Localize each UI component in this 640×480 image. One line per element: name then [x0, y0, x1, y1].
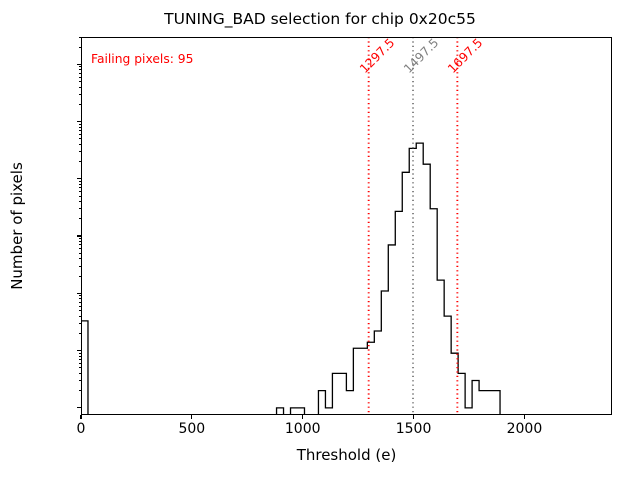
- y-axis-minor-tick: [79, 161, 82, 162]
- y-axis-minor-tick: [79, 134, 82, 135]
- y-axis-minor-tick: [79, 77, 82, 78]
- y-axis-minor-tick: [79, 380, 82, 381]
- y-axis-minor-tick: [79, 241, 82, 242]
- y-axis-minor-tick: [79, 124, 82, 125]
- y-axis-minor-tick: [79, 258, 82, 259]
- x-tick-label: 1500: [374, 421, 454, 437]
- y-axis-minor-tick: [79, 187, 82, 188]
- y-axis-minor-tick: [79, 218, 82, 219]
- y-axis-minor-tick: [79, 266, 82, 267]
- figure-canvas: TUNING_BAD selection for chip 0x20c55 Nu…: [0, 0, 640, 480]
- y-axis-minor-tick: [79, 196, 82, 197]
- y-axis-minor-tick: [79, 127, 82, 128]
- y-axis-minor-tick: [79, 181, 82, 182]
- page-title: TUNING_BAD selection for chip 0x20c55: [0, 10, 640, 28]
- y-axis-minor-tick: [79, 276, 82, 277]
- threshold-vlines: [369, 37, 458, 415]
- histogram-plot: [81, 37, 612, 415]
- x-tick-label: 500: [152, 421, 232, 437]
- y-axis-minor-tick: [79, 316, 82, 317]
- y-axis-tick: [77, 350, 81, 351]
- y-axis-minor-tick: [79, 363, 82, 364]
- y-axis-minor-tick: [79, 310, 82, 311]
- y-axis-tick: [77, 235, 81, 236]
- y-axis-minor-tick: [79, 333, 82, 334]
- y-axis-minor-tick: [79, 138, 82, 139]
- y-axis-minor-tick: [79, 248, 82, 249]
- y-axis-minor-tick: [79, 87, 82, 88]
- y-axis-tick: [77, 121, 81, 122]
- y-axis-minor-tick: [79, 244, 82, 245]
- y-axis-minor-tick: [79, 306, 82, 307]
- y-axis-minor-tick: [79, 130, 82, 131]
- y-axis-tick: [77, 64, 81, 65]
- x-tick-label: 0: [41, 421, 121, 437]
- x-axis-tick: [524, 415, 525, 419]
- y-axis-minor-tick: [79, 390, 82, 391]
- y-axis-minor-tick: [79, 151, 82, 152]
- y-axis-minor-tick: [79, 323, 82, 324]
- histogram-outline: [81, 143, 500, 415]
- y-axis-tick: [77, 293, 81, 294]
- y-axis-minor-tick: [79, 69, 82, 70]
- y-axis-minor-tick: [79, 298, 82, 299]
- x-axis-label: Threshold (e): [81, 446, 612, 464]
- y-axis-minor-tick: [79, 184, 82, 185]
- y-axis-minor-tick: [79, 144, 82, 145]
- y-axis-minor-tick: [79, 73, 82, 74]
- y-axis-minor-tick: [79, 208, 82, 209]
- x-axis-tick: [413, 415, 414, 419]
- y-axis-minor-tick: [79, 238, 82, 239]
- y-axis-minor-tick: [79, 295, 82, 296]
- y-axis-minor-tick: [79, 353, 82, 354]
- y-axis-minor-tick: [79, 253, 82, 254]
- x-tick-label: 2000: [484, 421, 564, 437]
- y-axis-tick: [77, 407, 81, 408]
- y-axis-minor-tick: [79, 356, 82, 357]
- y-axis-minor-tick: [79, 302, 82, 303]
- failing-pixels-annotation: Failing pixels: 95: [91, 52, 193, 66]
- y-axis-minor-tick: [79, 359, 82, 360]
- plot-area: [81, 37, 612, 415]
- y-axis-minor-tick: [79, 66, 82, 67]
- y-axis-tick: [77, 178, 81, 179]
- y-axis-label: Number of pixels: [8, 37, 26, 415]
- histogram-step-line: [81, 143, 500, 415]
- y-axis-minor-tick: [79, 191, 82, 192]
- x-axis-tick: [302, 415, 303, 419]
- y-axis-minor-tick: [79, 201, 82, 202]
- y-axis-minor-tick: [79, 81, 82, 82]
- x-axis-tick: [80, 415, 81, 419]
- y-axis-minor-tick: [79, 47, 82, 48]
- y-axis-minor-tick: [79, 367, 82, 368]
- x-tick-label: 1000: [263, 421, 343, 437]
- y-axis-minor-tick: [79, 373, 82, 374]
- y-axis-minor-tick: [79, 37, 82, 38]
- y-axis-minor-tick: [79, 94, 82, 95]
- x-axis-tick: [191, 415, 192, 419]
- y-axis-minor-tick: [79, 104, 82, 105]
